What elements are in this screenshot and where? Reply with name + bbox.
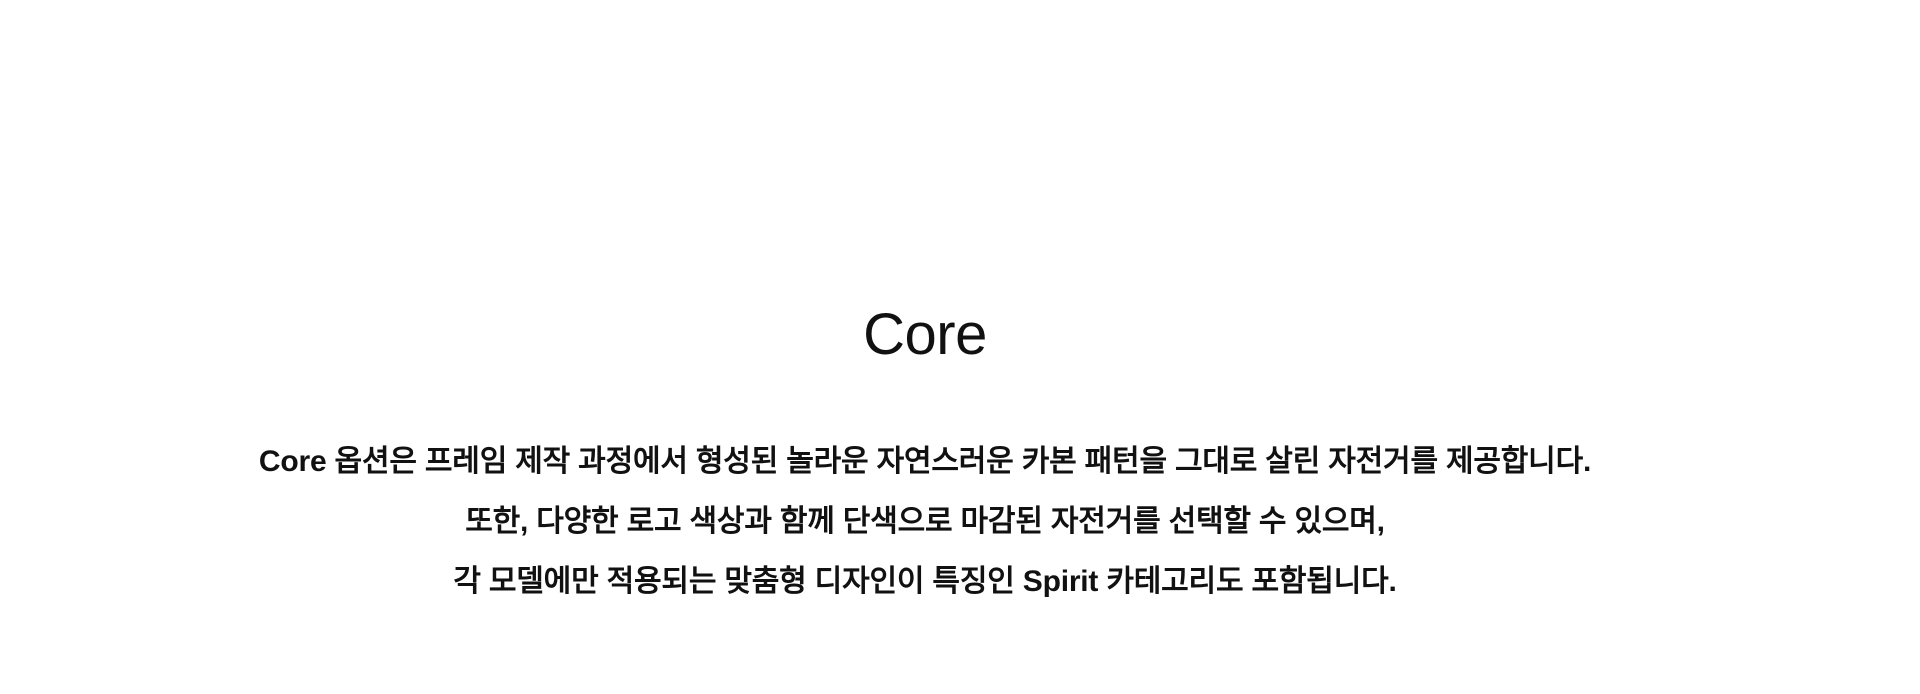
description-line-3: 각 모델에만 적용되는 맞춤형 디자인이 특징인 Spirit 카테고리도 포함…	[0, 552, 1850, 612]
page-root: { "page": { "background_color": "#ffffff…	[0, 0, 1920, 694]
section-description: Core 옵션은 프레임 제작 과정에서 형성된 놀라운 자연스러운 카본 패턴…	[0, 432, 1850, 612]
page-title: Core	[0, 306, 1850, 364]
description-line-2: 또한, 다양한 로고 색상과 함께 단색으로 마감된 자전거를 선택할 수 있으…	[0, 492, 1850, 552]
description-line-1: Core 옵션은 프레임 제작 과정에서 형성된 놀라운 자연스러운 카본 패턴…	[0, 432, 1850, 492]
core-section: Core Core 옵션은 프레임 제작 과정에서 형성된 놀라운 자연스러운 …	[0, 0, 1850, 694]
